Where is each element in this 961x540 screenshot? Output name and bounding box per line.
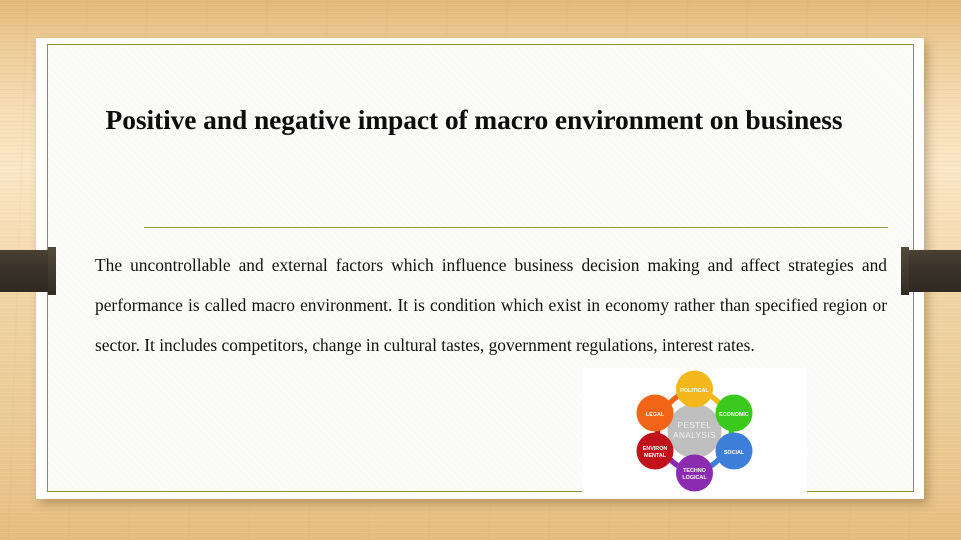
page-title: Positive and negative impact of macro en…: [94, 93, 854, 147]
pestel-node-economic[interactable]: ECONOMIC: [716, 395, 753, 432]
body-paragraph: The uncontrollable and external factors …: [95, 245, 887, 365]
title-divider: [144, 227, 888, 228]
pestel-node-technological-label-line2: LOGICAL: [682, 475, 707, 481]
pestel-node-political-label: POLITICAL: [680, 388, 709, 394]
pestel-node-technological[interactable]: TECHNO LOGICAL: [676, 455, 713, 492]
pestel-node-environmental[interactable]: ENVIRON MENTAL: [637, 433, 674, 470]
pestel-node-legal-label: LEGAL: [646, 412, 665, 418]
pestel-node-environmental-label-line2: MENTAL: [644, 453, 667, 459]
pestel-diagram-svg: PESTEL ANALYSIS POLITICAL ECONOMIC SOCIA…: [582, 368, 807, 493]
left-binder-tab: [0, 250, 56, 292]
pestel-analysis-figure: PESTEL ANALYSIS POLITICAL ECONOMIC SOCIA…: [582, 368, 807, 493]
pestel-node-political[interactable]: POLITICAL: [676, 371, 713, 408]
right-binder-tab: [901, 250, 961, 292]
pestel-node-social[interactable]: SOCIAL: [716, 433, 753, 470]
pestel-node-legal[interactable]: LEGAL: [637, 395, 674, 432]
pestel-node-social-label: SOCIAL: [724, 450, 745, 456]
title-block: Positive and negative impact of macro en…: [94, 93, 854, 147]
pestel-center-label-line2: ANALYSIS: [673, 431, 716, 440]
slide-card: Positive and negative impact of macro en…: [36, 38, 924, 499]
pestel-node-economic-label: ECONOMIC: [719, 412, 749, 418]
pestel-center-label-line1: PESTEL: [678, 421, 712, 430]
pestel-node-environmental-label-line1: ENVIRON: [643, 446, 668, 452]
pestel-node-technological-label-line1: TECHNO: [683, 468, 706, 474]
body-paragraph-text: The uncontrollable and external factors …: [95, 245, 887, 365]
